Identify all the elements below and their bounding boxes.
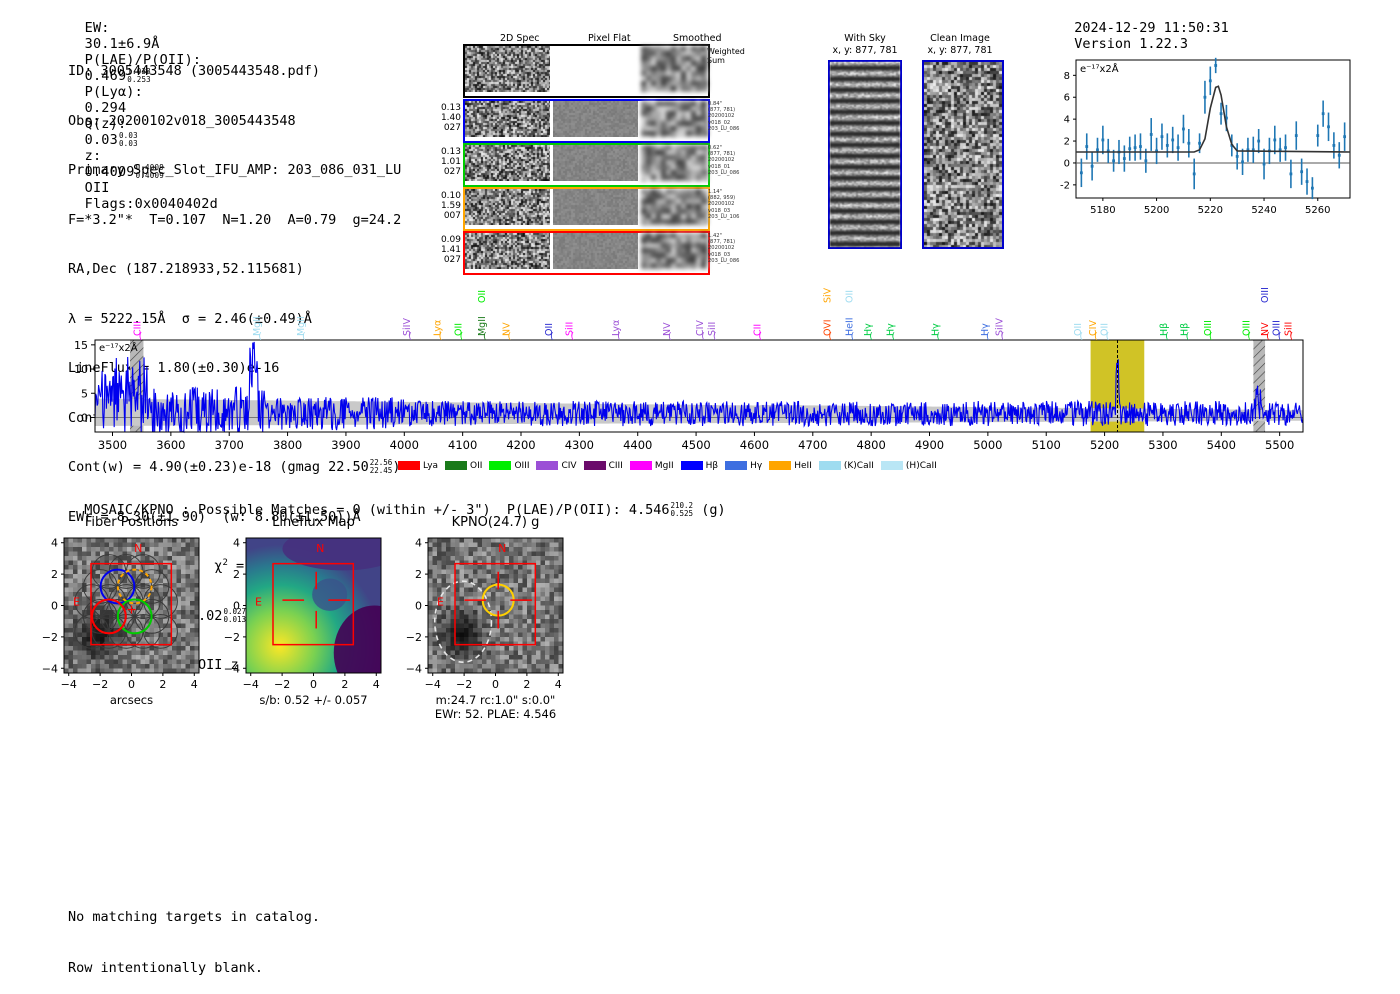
bottom-cutout-panels: Fiber PositionsNE−4−2024420−2−4arcsecsLi… xyxy=(0,505,640,745)
tile-pixel-flat xyxy=(553,101,638,141)
spectrum-legend: LyaOIIOIIICIVCIIIMgIIHβHγHeII(K)CaII(H)C… xyxy=(398,455,944,474)
svg-text:3500: 3500 xyxy=(98,438,127,452)
svg-text:OII: OII xyxy=(1100,323,1111,336)
legend-swatch xyxy=(398,461,420,470)
svg-text:3800: 3800 xyxy=(273,438,302,452)
legend-label: Lya xyxy=(423,461,438,471)
tile-smoothed xyxy=(641,145,708,185)
cutout-xtick: 2 xyxy=(523,678,530,691)
line-marker-OIII: (OIII xyxy=(1241,320,1252,342)
svg-text:8: 8 xyxy=(1064,71,1070,82)
legend-item-HeII: HeII xyxy=(769,461,812,471)
cutout-ytick: 2 xyxy=(233,568,240,581)
legend-label: OII xyxy=(470,461,482,471)
cutout-ytick: 4 xyxy=(233,537,240,550)
cutout-xtick: 0 xyxy=(310,678,317,691)
svg-text:4: 4 xyxy=(1064,115,1070,126)
svg-text:5180: 5180 xyxy=(1090,205,1115,216)
cutout-xtick: 2 xyxy=(341,678,348,691)
line-profile-plot: e⁻¹⁷x2Å-20246851805200522052405260 xyxy=(1040,48,1360,233)
cutout-xtick: 0 xyxy=(492,678,499,691)
cutout-ytick: 0 xyxy=(233,600,240,613)
cutout-title: KPNO(24.7) g xyxy=(452,515,540,530)
svg-text:5100: 5100 xyxy=(1032,438,1061,452)
legend-swatch xyxy=(681,461,703,470)
svg-text:Lyα: Lyα xyxy=(611,320,622,336)
montage-row xyxy=(463,231,710,275)
svg-text:3900: 3900 xyxy=(331,438,360,452)
svg-text:4300: 4300 xyxy=(565,438,594,452)
line-marker-CII: (CII xyxy=(752,324,763,342)
svg-text:NV: NV xyxy=(662,322,673,336)
tile-pixel-flat xyxy=(553,233,638,273)
legend-label: CIII xyxy=(609,461,623,471)
line-marker-MgII: (MgII xyxy=(477,316,488,342)
tile-pixel-flat xyxy=(553,145,638,185)
svg-text:SiIV: SiIV xyxy=(994,318,1005,336)
cutout-ytick: 0 xyxy=(51,600,58,613)
cutout-ytick: 4 xyxy=(51,537,58,550)
compass-east: E xyxy=(255,596,262,609)
svg-text:MgII: MgII xyxy=(477,316,488,336)
svg-text:4900: 4900 xyxy=(915,438,944,452)
svg-text:5220: 5220 xyxy=(1198,205,1223,216)
footer-line-1: No matching targets in catalog. xyxy=(68,909,320,926)
cutout-xtick: −4 xyxy=(61,678,77,691)
two-d-spec-montage: 2D Spec Pixel Flat Smoothed Weighted Sum… xyxy=(425,33,755,248)
full-spectrum-panel: e⁻¹⁷x2Å051015350036003700380039004000410… xyxy=(0,270,1400,470)
legend-item-Hβ: Hβ xyxy=(681,461,719,471)
svg-text:NV: NV xyxy=(1260,322,1271,336)
line-marker-SiII: (SiII xyxy=(564,322,575,342)
svg-text:5400: 5400 xyxy=(1207,438,1236,452)
line-marker-OII: (OII xyxy=(453,323,464,342)
svg-text:Hγ: Hγ xyxy=(980,323,991,336)
clean-image-pixels xyxy=(922,60,1004,249)
cutout-ytick: 4 xyxy=(415,537,422,550)
line-marker-Hγ: (Hγ xyxy=(930,323,941,342)
tile-smoothed xyxy=(641,46,708,96)
svg-text:CIV: CIV xyxy=(1088,320,1099,336)
line-profile-svg: e⁻¹⁷x2Å-20246851805200522052405260 xyxy=(1040,48,1360,233)
svg-text:5240: 5240 xyxy=(1251,205,1276,216)
tile-2dspec xyxy=(465,101,550,141)
svg-text:5200: 5200 xyxy=(1144,205,1169,216)
cutout-sublabel: EWr: 52. PLAE: 4.546 xyxy=(435,707,556,721)
header-timestamp-version: 2024-12-29 11:50:31 Version 1.22.3 xyxy=(1058,4,1245,52)
legend-swatch xyxy=(536,461,558,470)
svg-text:3600: 3600 xyxy=(156,438,185,452)
legend-item-OII: OII xyxy=(445,461,482,471)
cutout-xtick: 4 xyxy=(373,678,380,691)
line-marker-Lyα: (Lyα xyxy=(611,320,622,342)
cutout-ytick: −2 xyxy=(224,631,240,644)
legend-swatch xyxy=(881,461,903,470)
svg-text:CII: CII xyxy=(752,324,763,336)
svg-text:4200: 4200 xyxy=(506,438,535,452)
svg-text:HeII: HeII xyxy=(844,317,855,336)
with-sky-subtitle: x, y: 877, 781 xyxy=(820,45,910,56)
tile-pixel-flat xyxy=(553,189,638,229)
svg-text:Hβ: Hβ xyxy=(1179,323,1190,336)
line-marker-Hβ: (Hβ xyxy=(1179,323,1190,342)
legend-swatch xyxy=(819,461,841,470)
legend-swatch xyxy=(584,461,606,470)
cutout-xtick: −4 xyxy=(243,678,259,691)
svg-text:SiII: SiII xyxy=(707,322,718,336)
svg-text:10: 10 xyxy=(74,363,88,376)
svg-text:Hβ: Hβ xyxy=(1159,323,1170,336)
tile-2dspec xyxy=(465,145,550,185)
panel-title-2dspec: 2D Spec xyxy=(500,33,540,44)
montage-row xyxy=(463,99,710,143)
legend-label: HeII xyxy=(794,461,812,471)
footer-note: No matching targets in catalog. Row inte… xyxy=(68,875,320,994)
tile-smoothed xyxy=(641,101,708,141)
svg-text:5500: 5500 xyxy=(1265,438,1294,452)
line-marker-NV: (NV xyxy=(662,322,673,342)
svg-text:NV: NV xyxy=(501,322,512,336)
montage-row-weighted-sum xyxy=(463,44,710,98)
legend-label: Hβ xyxy=(706,461,719,471)
line-marker-CIV: (CIV xyxy=(1088,320,1099,342)
line-marker-Hγ: (Hγ xyxy=(980,323,991,342)
compass-east: E xyxy=(73,596,80,609)
svg-text:OII: OII xyxy=(844,290,855,303)
svg-text:OIII: OIII xyxy=(1260,287,1271,303)
svg-text:15: 15 xyxy=(74,339,88,352)
svg-text:e⁻¹⁷x2Å: e⁻¹⁷x2Å xyxy=(1080,62,1119,75)
svg-text:Lyα: Lyα xyxy=(432,320,443,336)
line-marker-Hγ: (Hγ xyxy=(885,323,896,342)
svg-text:5300: 5300 xyxy=(1148,438,1177,452)
cutout-panel-1: Lineflux MapNE−4−2024420−2−4s/b: 0.52 +/… xyxy=(224,515,415,707)
svg-text:Hγ: Hγ xyxy=(863,323,874,336)
cutout-xtick: 4 xyxy=(555,678,562,691)
legend-item-CIV: CIV xyxy=(536,461,576,471)
svg-text:SiII: SiII xyxy=(564,322,575,336)
legend-label: Hγ xyxy=(750,461,762,471)
line-marker-CIII: (CIII xyxy=(133,321,144,342)
tile-smoothed xyxy=(641,189,708,229)
svg-text:SiIV: SiIV xyxy=(402,318,413,336)
svg-text:4000: 4000 xyxy=(390,438,419,452)
montage-row-metadata: 1.14" (882, 959) 20200102 v018_03 203_LU… xyxy=(708,189,739,220)
svg-text:MgII: MgII xyxy=(296,316,307,336)
svg-text:OVI: OVI xyxy=(822,319,833,336)
compass-east: E xyxy=(437,596,444,609)
cutout-ytick: −2 xyxy=(42,631,58,644)
line-marker-OIII: (OIII xyxy=(1203,320,1214,342)
cutout-xlabel: s/b: 0.52 +/- 0.057 xyxy=(259,693,367,707)
svg-text:SiV: SiV xyxy=(822,287,833,303)
cutout-xlabel: m:24.7 rc:1.0" s:0.0" xyxy=(436,693,556,707)
cutout-xtick: 4 xyxy=(191,678,198,691)
line-marker-Lyα: (Lyα xyxy=(432,320,443,342)
svg-text:e⁻¹⁷x2Å: e⁻¹⁷x2Å xyxy=(99,341,138,354)
montage-row-left-values: 0.13 1.01 027 xyxy=(425,147,461,177)
line-marker-SiII: (SiII xyxy=(707,322,718,342)
legend-item-Lya: Lya xyxy=(398,461,438,471)
tile-smoothed xyxy=(641,233,708,273)
with-sky-image xyxy=(828,60,902,249)
line-marker-OIII: OIII xyxy=(1260,287,1271,303)
svg-text:4600: 4600 xyxy=(740,438,769,452)
svg-text:OIII: OIII xyxy=(1272,320,1283,336)
panel-title-smoothed: Smoothed xyxy=(673,33,722,44)
line-marker-NV: (NV xyxy=(1260,322,1271,342)
compass-north: N xyxy=(498,542,506,555)
cutout-xtick: −2 xyxy=(274,678,290,691)
line-marker-OIII: (OIII xyxy=(1272,320,1283,342)
line-marker-SiII: (SiII xyxy=(1283,322,1294,342)
svg-text:OII: OII xyxy=(1073,323,1084,336)
svg-text:4500: 4500 xyxy=(681,438,710,452)
montage-row-left-values: 0.13 1.40 027 xyxy=(425,103,461,133)
legend-swatch xyxy=(769,461,791,470)
line-marker-Hγ: (Hγ xyxy=(863,323,874,342)
tile-2dspec xyxy=(465,233,550,273)
line-marker-MgII: (MgII xyxy=(252,316,263,342)
cutout-ytick: −4 xyxy=(406,662,422,675)
clean-image-title: Clean Image xyxy=(910,33,1010,44)
svg-text:CIV: CIV xyxy=(695,320,706,336)
legend-item-(H)CaII: (H)CaII xyxy=(881,461,937,471)
line-marker-SiV: SiV xyxy=(822,287,833,303)
svg-text:4400: 4400 xyxy=(623,438,652,452)
svg-text:Hγ: Hγ xyxy=(930,323,941,336)
info-line-id: ID: 3005443548 (3005443548.pdf) xyxy=(68,63,401,80)
svg-text:5000: 5000 xyxy=(973,438,1002,452)
footer-line-2: Row intentionally blank. xyxy=(68,960,320,977)
line-marker-SiIV: (SiIV xyxy=(994,318,1005,342)
svg-text:3700: 3700 xyxy=(215,438,244,452)
svg-text:0: 0 xyxy=(81,411,88,424)
legend-label: CIV xyxy=(561,461,576,471)
legend-item-(K)CaII: (K)CaII xyxy=(819,461,874,471)
line-marker-OII: (OII xyxy=(1073,323,1084,342)
svg-text:OII: OII xyxy=(453,323,464,336)
cutout-xtick: −2 xyxy=(456,678,472,691)
line-marker-CIV: (CIV xyxy=(695,320,706,342)
line-marker-OII: (OII xyxy=(544,323,555,342)
info-line-primary-spec: Primary Spec_Slot_IFU_AMP: 203_086_031_L… xyxy=(68,162,401,179)
cutout-ytick: 0 xyxy=(415,600,422,613)
montage-row xyxy=(463,143,710,187)
cutout-panel-2: KPNO(24.7) gNE−4−2024420−2−4m:24.7 rc:1.… xyxy=(406,515,564,721)
info-line-obs: Obs: 20200102v018_3005443548 xyxy=(68,113,401,130)
cutout-xlabel: arcsecs xyxy=(110,693,153,707)
line-marker-MgII: (MgII xyxy=(296,316,307,342)
line-marker-HeII: (HeII xyxy=(844,317,855,342)
cutout-ytick: 2 xyxy=(51,568,58,581)
svg-text:OIII: OIII xyxy=(1203,320,1214,336)
svg-text:-2: -2 xyxy=(1060,180,1070,191)
legend-swatch xyxy=(445,461,467,470)
svg-text:0: 0 xyxy=(1064,158,1070,169)
cutout-ytick: 2 xyxy=(415,568,422,581)
montage-row-metadata: 0.62" (877, 781) 20200102 v018_01 203_LU… xyxy=(708,145,739,176)
legend-label: (H)CaII xyxy=(906,461,937,471)
cutout-xtick: −4 xyxy=(425,678,441,691)
weighted-sum-label: Weighted Sum xyxy=(707,47,745,65)
legend-label: MgII xyxy=(655,461,674,471)
svg-text:4800: 4800 xyxy=(857,438,886,452)
svg-text:SiII: SiII xyxy=(1283,322,1294,336)
with-sky-title: With Sky xyxy=(820,33,910,44)
legend-swatch xyxy=(489,461,511,470)
svg-text:2: 2 xyxy=(1064,137,1070,148)
cutout-title: Fiber Positions xyxy=(85,515,178,530)
full-spectrum-svg: e⁻¹⁷x2Å051015350036003700380039004000410… xyxy=(0,270,1400,470)
svg-text:Hγ: Hγ xyxy=(885,323,896,336)
svg-text:5: 5 xyxy=(81,387,88,400)
legend-item-MgII: MgII xyxy=(630,461,674,471)
tile-2dspec xyxy=(465,189,550,229)
line-marker-Hβ: (Hβ xyxy=(1159,323,1170,342)
montage-row-left-values: 0.10 1.59 007 xyxy=(425,191,461,221)
svg-text:4100: 4100 xyxy=(448,438,477,452)
legend-item-Hγ: Hγ xyxy=(725,461,762,471)
montage-row-metadata: 1.42" (877, 781) 20200102 v018_03 203_LU… xyxy=(708,233,739,264)
legend-item-OIII: OIII xyxy=(489,461,529,471)
line-marker-OVI: (OVI xyxy=(822,319,833,342)
svg-text:5200: 5200 xyxy=(1090,438,1119,452)
compass-north: N xyxy=(316,542,324,555)
montage-row-left-values: 0.09 1.41 027 xyxy=(425,235,461,265)
legend-swatch xyxy=(725,461,747,470)
line-marker-OII: OII xyxy=(477,290,488,303)
tile-2dspec xyxy=(465,46,550,96)
line-marker-OII: (OII xyxy=(1100,323,1111,342)
legend-swatch xyxy=(630,461,652,470)
legend-label: OIII xyxy=(514,461,529,471)
svg-text:CIII: CIII xyxy=(133,321,144,336)
mosaic-post: (g) xyxy=(701,502,725,518)
cutout-xtick: 0 xyxy=(128,678,135,691)
svg-text:MgII: MgII xyxy=(252,316,263,336)
info-line-params: F=*3.2"* T=0.107 N=1.20 A=0.79 g=24.2 xyxy=(68,212,401,229)
clean-image-subtitle: x, y: 877, 781 xyxy=(910,45,1010,56)
line-marker-NV: (NV xyxy=(501,322,512,342)
cutout-ytick: −4 xyxy=(42,662,58,675)
svg-text:OII: OII xyxy=(544,323,555,336)
timestamp: 2024-12-29 11:50:31 xyxy=(1074,20,1228,36)
cutout-xtick: 2 xyxy=(159,678,166,691)
legend-item-CIII: CIII xyxy=(584,461,623,471)
svg-text:4700: 4700 xyxy=(798,438,827,452)
svg-text:OII: OII xyxy=(477,290,488,303)
cutout-ytick: −4 xyxy=(224,662,240,675)
bottom-cutouts-svg: Fiber PositionsNE−4−2024420−2−4arcsecsLi… xyxy=(0,505,640,745)
montage-row-metadata: 0.84" (877, 781) 20200102 v018_02 203_LU… xyxy=(708,101,739,132)
montage-row xyxy=(463,187,710,231)
mosaic-lo: 0.525 xyxy=(670,509,693,518)
cutout-xtick: −2 xyxy=(92,678,108,691)
legend-label: (K)CaII xyxy=(844,461,874,471)
cutout-title: Lineflux Map xyxy=(272,515,355,530)
svg-text:OIII: OIII xyxy=(1241,320,1252,336)
svg-text:5260: 5260 xyxy=(1305,205,1330,216)
panel-title-pixelflat: Pixel Flat xyxy=(588,33,631,44)
tile-pixel-flat xyxy=(553,46,638,96)
cutout-panel-0: Fiber PositionsNE−4−2024420−2−4arcsecs xyxy=(42,515,200,707)
svg-text:6: 6 xyxy=(1064,93,1070,104)
line-marker-OII: OII xyxy=(844,290,855,303)
line-marker-SiIV: (SiIV xyxy=(402,318,413,342)
cutout-ytick: −2 xyxy=(406,631,422,644)
compass-north: N xyxy=(134,542,142,555)
